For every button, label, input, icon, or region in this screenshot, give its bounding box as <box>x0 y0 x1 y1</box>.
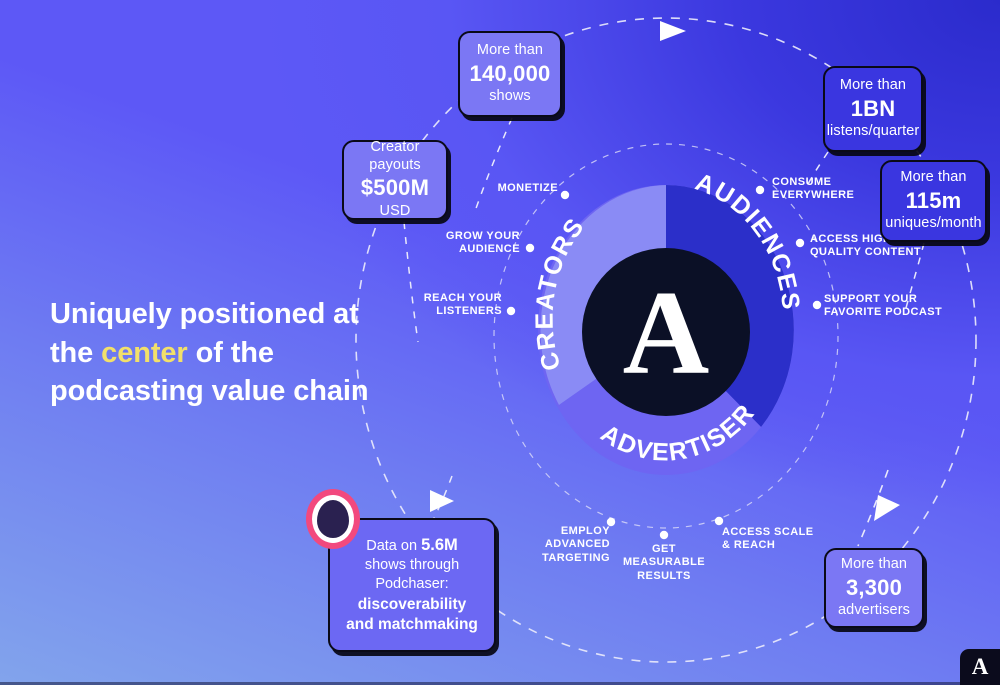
spoke-dot-monetize <box>561 191 569 199</box>
spoke-dot-reach-listeners <box>507 307 515 315</box>
spoke-dots <box>0 0 1000 685</box>
spoke-dot-measurable-results <box>660 531 668 539</box>
spoke-dot-consume-everywhere <box>756 186 764 194</box>
spoke-dot-quality-content <box>796 239 804 247</box>
infographic-canvas: A CREATORS AUDIENCES ADVERTISERS MONETIZ… <box>0 0 1000 685</box>
spoke-dot-employ-targeting <box>607 518 615 526</box>
spoke-dot-access-scale <box>715 517 723 525</box>
spoke-dot-support-podcast <box>813 301 821 309</box>
spoke-dot-grow-audience <box>526 244 534 252</box>
